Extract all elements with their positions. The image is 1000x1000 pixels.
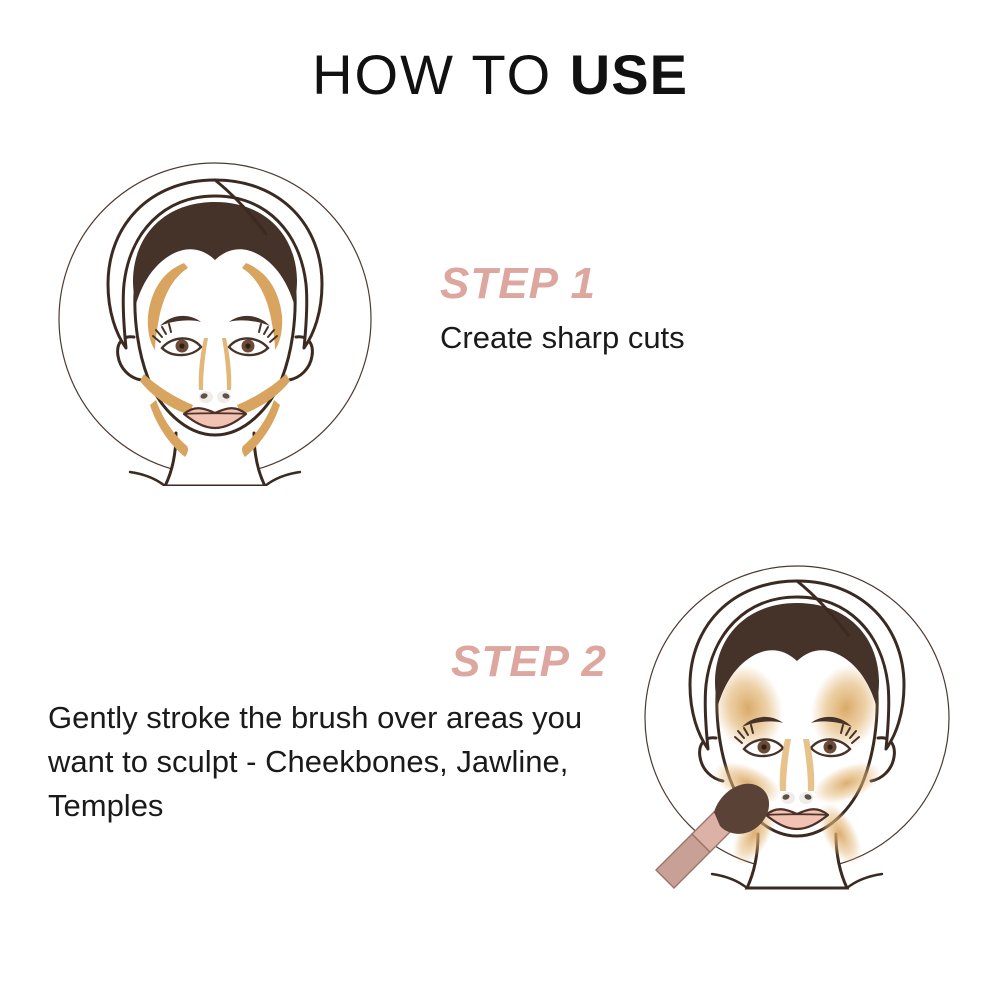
page-title: HOW TO USE	[0, 42, 1000, 107]
step-1-label: STEP 1	[440, 262, 860, 306]
step-2-text-block: STEP 2 Gently stroke the brush over area…	[48, 640, 613, 828]
step-1-body: Create sharp cuts	[440, 316, 860, 360]
shoulder-line-right	[847, 874, 882, 888]
shoulder-line	[130, 472, 165, 486]
step-2-illustration	[634, 558, 964, 892]
shoulder-line	[712, 874, 747, 888]
page-title-light: HOW TO	[312, 43, 570, 106]
step-2-body: Gently stroke the brush over areas you w…	[48, 696, 613, 828]
step-1-illustration	[52, 152, 382, 486]
shoulder-line-right	[265, 472, 300, 486]
page-title-bold: USE	[570, 43, 688, 106]
step-1-text-block: STEP 1 Create sharp cuts	[440, 262, 860, 360]
how-to-use-infographic: HOW TO USE	[0, 0, 1000, 1000]
step-2-label: STEP 2	[48, 640, 607, 684]
